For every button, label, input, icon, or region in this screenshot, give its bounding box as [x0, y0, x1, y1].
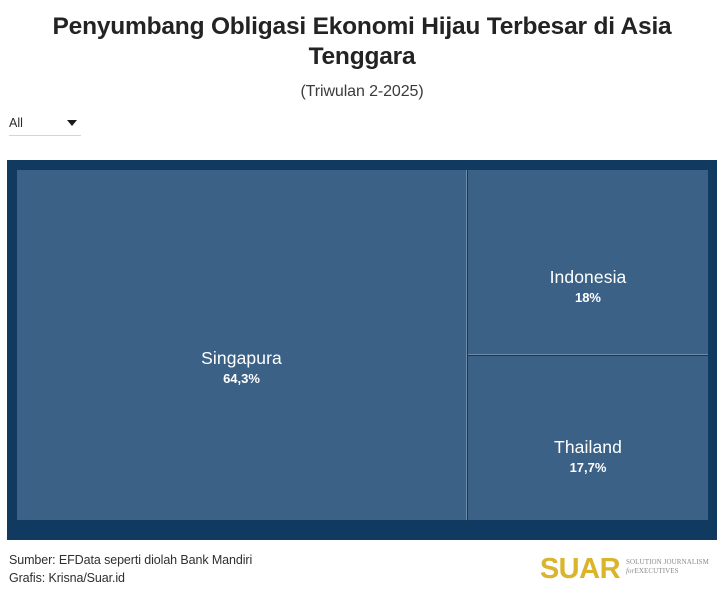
treemap-tile-indonesia[interactable]: Indonesia 18% [468, 170, 708, 355]
credit-text: Grafis: Krisna/Suar.id [9, 569, 252, 587]
header: Penyumbang Obligasi Ekonomi Hijau Terbes… [0, 0, 724, 101]
treemap-tile-singapura[interactable]: Singapura 64,3% [17, 170, 467, 520]
footer: Sumber: EFData seperti diolah Bank Mandi… [9, 551, 715, 591]
treemap-tile-indonesia-content: Indonesia 18% [550, 266, 627, 306]
brand-tagline-executives: EXECUTIVES [635, 567, 679, 575]
brand-tagline-line1: SOLUTION JOURNALISM [626, 558, 709, 567]
filter-row: All [9, 116, 81, 136]
page-title: Penyumbang Obligasi Ekonomi Hijau Terbes… [0, 12, 724, 72]
brand-tagline-for: for [626, 567, 634, 575]
treemap-tile-label: Indonesia [550, 266, 627, 288]
treemap-tile-label: Singapura [201, 347, 282, 369]
filter-selected-value: All [9, 116, 23, 130]
treemap-tile-value: 18% [575, 289, 601, 306]
brand-wordmark: SUAR [540, 554, 620, 584]
treemap-tile-thailand[interactable]: Thailand 17,7% [468, 356, 708, 520]
treemap-tile-singapura-content: Singapura 64,3% [201, 347, 282, 387]
page-subtitle: (Triwulan 2-2025) [0, 83, 724, 101]
treemap-frame: Singapura 64,3% Indonesia 18% Thailand 1… [7, 160, 717, 540]
source-block: Sumber: EFData seperti diolah Bank Mandi… [9, 551, 252, 587]
treemap-tile-value: 64,3% [223, 370, 260, 387]
treemap-chart: Singapura 64,3% Indonesia 18% Thailand 1… [17, 170, 708, 520]
source-text: Sumber: EFData seperti diolah Bank Mandi… [9, 551, 252, 569]
treemap-tile-thailand-content: Thailand 17,7% [554, 436, 622, 476]
filter-dropdown[interactable]: All [9, 116, 81, 136]
treemap-tile-label: Thailand [554, 436, 622, 458]
chevron-down-icon [67, 120, 77, 126]
brand-tagline: SOLUTION JOURNALISM forEXECUTIVES [626, 558, 709, 576]
brand-logo: SUAR SOLUTION JOURNALISM forEXECUTIVES [540, 554, 709, 584]
infographic-page: Penyumbang Obligasi Ekonomi Hijau Terbes… [0, 0, 724, 592]
treemap-tile-value: 17,7% [570, 459, 607, 476]
brand-tagline-line2: forEXECUTIVES [626, 567, 709, 576]
